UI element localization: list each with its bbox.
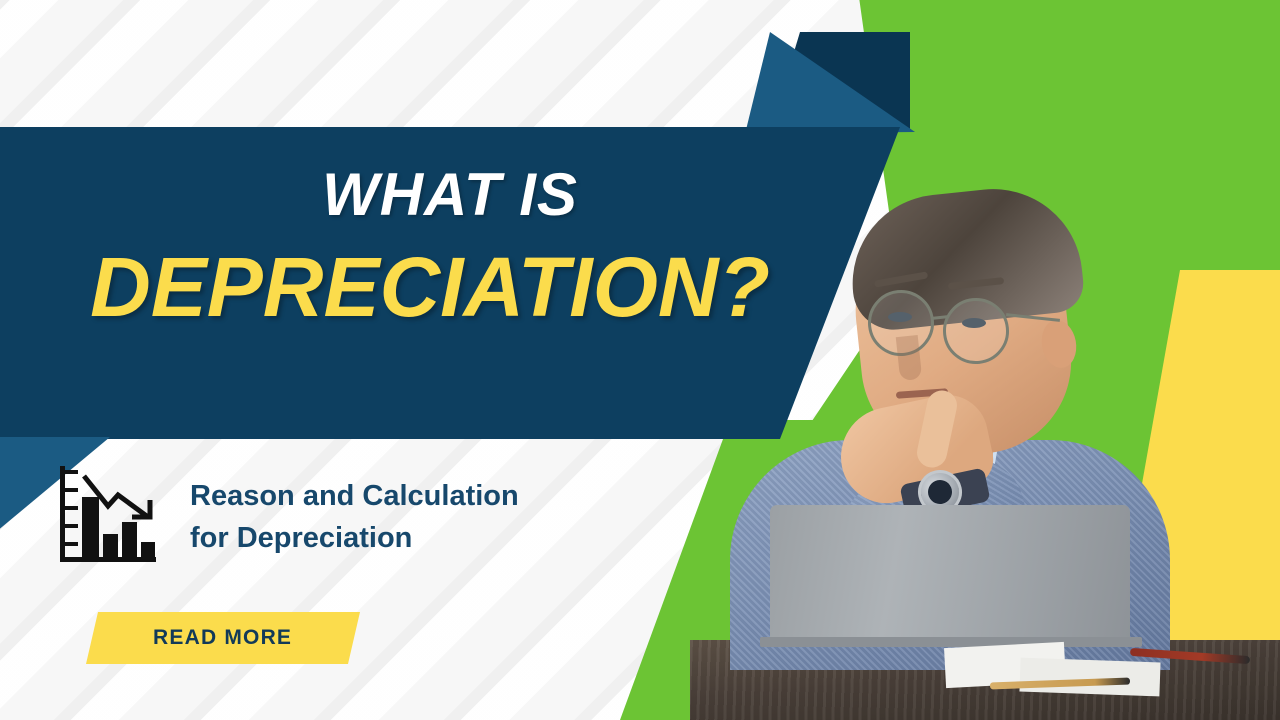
subtitle-group: Reason and Calculation for Depreciation [52, 462, 519, 572]
headline-line-2: DEPRECIATION? [0, 243, 820, 331]
subtitle-text: Reason and Calculation for Depreciation [190, 475, 519, 559]
headline-line-1: WHAT IS [0, 160, 820, 229]
headline-group: WHAT IS DEPRECIATION? [0, 160, 820, 331]
paper-sheet [1019, 658, 1160, 697]
subtitle-line-2: for Depreciation [190, 517, 519, 559]
laptop-lid [770, 505, 1130, 645]
read-more-label: READ MORE [153, 626, 292, 650]
poster-canvas: WHAT IS DEPRECIATION? Reason and [0, 0, 1280, 720]
declining-bar-chart-icon [52, 462, 164, 572]
subtitle-line-1: Reason and Calculation [190, 475, 519, 517]
read-more-button[interactable]: READ MORE [86, 612, 360, 664]
person-nose [896, 335, 922, 381]
laptop-base [760, 637, 1142, 647]
